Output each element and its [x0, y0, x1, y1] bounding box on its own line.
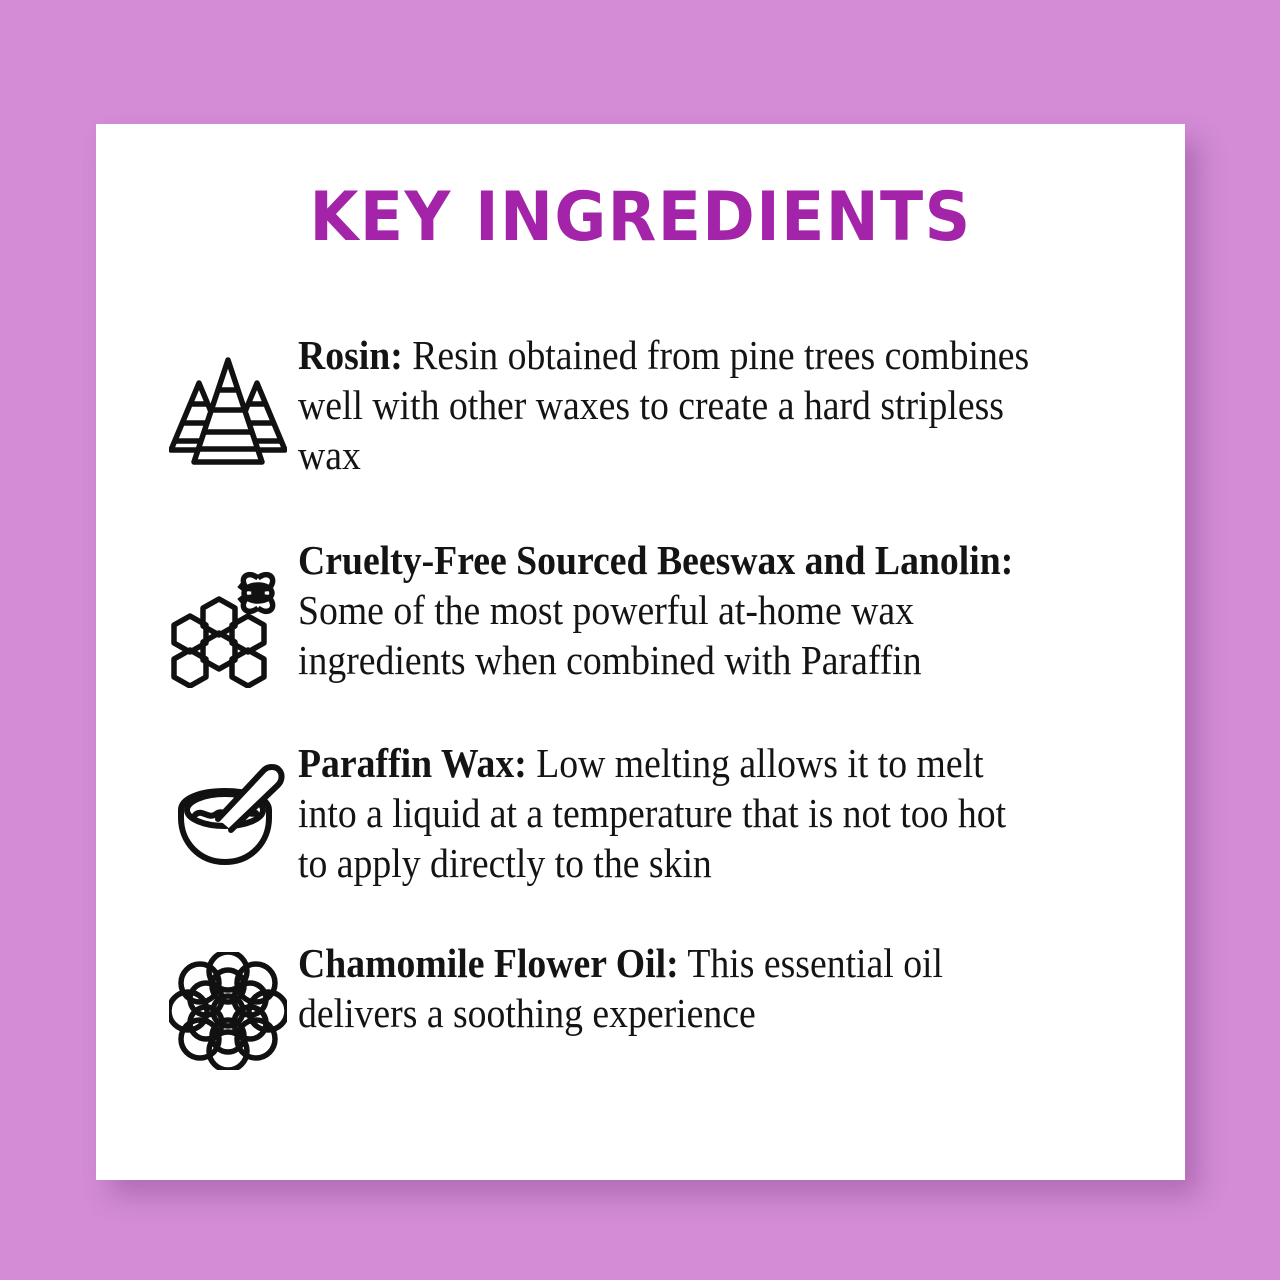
ingredient-item: Rosin: Resin obtained from pine trees co…: [96, 330, 1185, 480]
ingredients-card: KEY INGREDIENTS: [96, 124, 1185, 1180]
ingredient-name: Cruelty-Free Sourced Beeswax and Lanolin…: [298, 537, 1013, 583]
ingredient-text: Rosin: Resin obtained from pine trees co…: [298, 330, 1034, 480]
ingredient-text: Paraffin Wax: Low melting allows it to m…: [298, 738, 1034, 888]
honeycomb-bee-icon: [158, 570, 298, 688]
ingredient-text: Cruelty-Free Sourced Beeswax and Lanolin…: [298, 535, 1034, 685]
ingredient-item: Chamomile Flower Oil: This essential oil…: [96, 938, 1185, 1070]
pine-trees-icon: [158, 352, 298, 470]
ingredient-description: Resin obtained from pine trees combines …: [298, 332, 1029, 478]
ingredient-name: Chamomile Flower Oil:: [298, 940, 679, 986]
ingredient-name: Rosin:: [298, 332, 403, 378]
page-title: KEY INGREDIENTS: [134, 184, 1147, 252]
ingredient-item: Paraffin Wax: Low melting allows it to m…: [96, 738, 1185, 888]
ingredient-item: Cruelty-Free Sourced Beeswax and Lanolin…: [96, 535, 1185, 688]
ingredient-description: Some of the most powerful at-home wax in…: [298, 587, 922, 683]
ingredients-list: Rosin: Resin obtained from pine trees co…: [96, 330, 1185, 1070]
ingredient-text: Chamomile Flower Oil: This essential oil…: [298, 938, 1034, 1038]
bowl-spatula-icon: [158, 758, 298, 876]
ingredient-name: Paraffin Wax:: [298, 740, 527, 786]
chamomile-flower-icon: [158, 952, 298, 1070]
